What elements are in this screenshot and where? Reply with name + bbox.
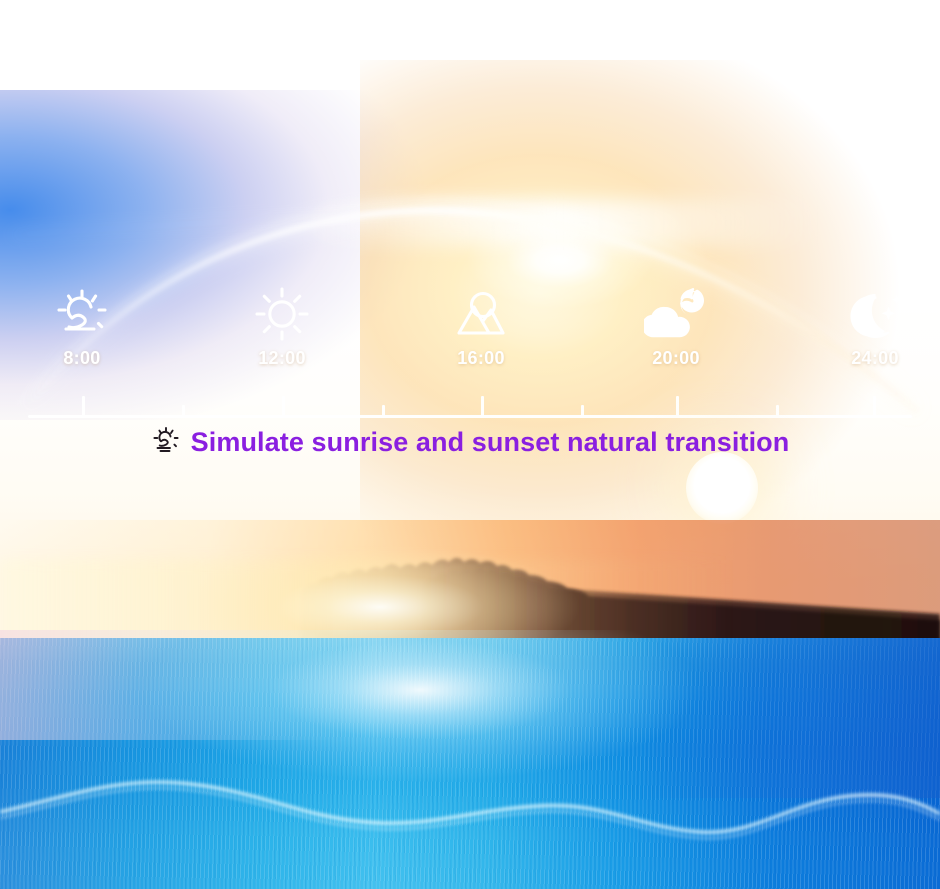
sunrise-small-icon bbox=[151, 425, 181, 460]
timeline-item-1600[interactable]: 16:00 bbox=[421, 278, 541, 369]
ruler-tick-major bbox=[282, 396, 285, 416]
water-warm-reflection bbox=[0, 630, 340, 740]
tree-silhouette-horizon bbox=[0, 540, 940, 650]
ruler-tick-major bbox=[481, 396, 484, 416]
timeline-item-0800[interactable]: 8:00 bbox=[22, 278, 142, 369]
caption-row: Simulate sunrise and sunset natural tran… bbox=[0, 425, 940, 460]
caption-text: Simulate sunrise and sunset natural tran… bbox=[191, 427, 790, 458]
water-deep-blue-area bbox=[640, 638, 940, 798]
timeline-icon-row: 8:00 12:00 bbox=[0, 278, 940, 388]
sun-icon bbox=[222, 278, 342, 350]
moon-stars-icon bbox=[815, 278, 935, 350]
water-ripple-texture bbox=[0, 638, 940, 889]
sunset-sky-band bbox=[0, 520, 940, 660]
timeline-label: 8:00 bbox=[22, 348, 142, 369]
sunrise-icon bbox=[22, 278, 142, 350]
mountain-sunset-icon bbox=[421, 278, 541, 350]
timeline-label: 12:00 bbox=[222, 348, 342, 369]
sun-flare-ray bbox=[300, 200, 820, 246]
horizon-sun-glow bbox=[180, 545, 640, 675]
timeline-ruler bbox=[28, 396, 912, 418]
timeline-item-2000[interactable]: 20:00 bbox=[616, 278, 736, 369]
product-banner-scene: 8:00 12:00 bbox=[0, 0, 940, 889]
moon-cloud-icon bbox=[616, 278, 736, 350]
setting-sun-disc bbox=[686, 452, 758, 524]
horizon-haze bbox=[0, 560, 940, 650]
timeline-item-2400[interactable]: 24:00 bbox=[815, 278, 935, 369]
ruler-tick-major bbox=[873, 396, 876, 416]
ruler-tick-major bbox=[676, 396, 679, 416]
wave-foam-line bbox=[0, 740, 940, 860]
sea-water bbox=[0, 638, 940, 889]
timeline-item-1200[interactable]: 12:00 bbox=[222, 278, 342, 369]
timeline-label: 24:00 bbox=[815, 348, 935, 369]
ruler-baseline bbox=[28, 415, 912, 418]
water-sun-reflection bbox=[120, 630, 740, 820]
timeline-label: 16:00 bbox=[421, 348, 541, 369]
timeline-label: 20:00 bbox=[616, 348, 736, 369]
ruler-tick-major bbox=[82, 396, 85, 416]
